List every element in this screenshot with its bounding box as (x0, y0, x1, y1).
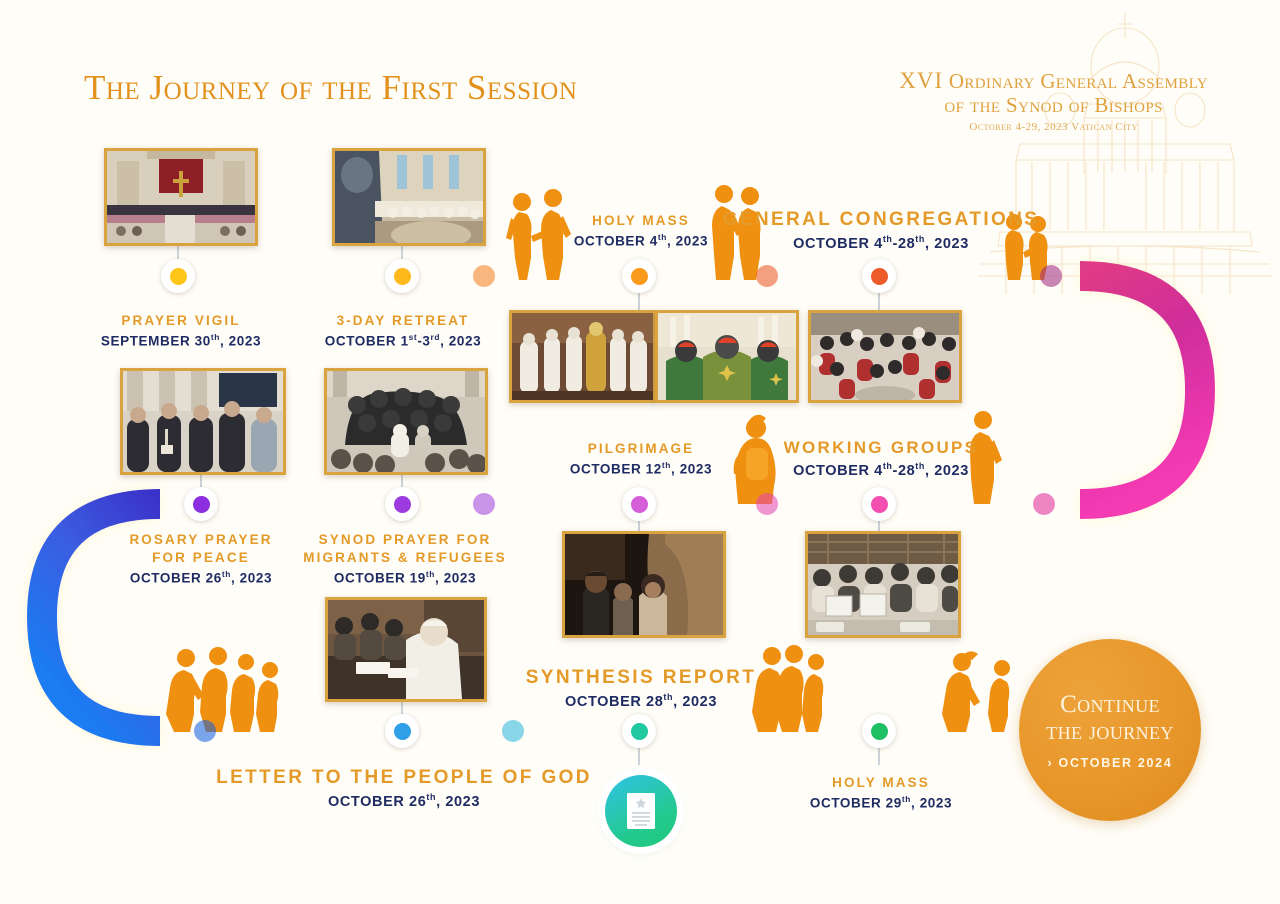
photo-rosary-prayer[interactable] (120, 368, 286, 475)
walking-people-silhouette-icon (938, 648, 1016, 732)
event-date: OCTOBER 12th, 2023 (570, 460, 712, 477)
timeline-marker-dot (473, 493, 495, 515)
photo-working-groups[interactable] (808, 310, 962, 403)
label-prayer-vigil: PRAYER VIGIL SEPTEMBER 30th, 2023 (101, 312, 261, 348)
timeline-node-prayer-vigil[interactable] (161, 259, 195, 293)
label-rosary-prayer-peace: ROSARY PRAYER FOR PEACE OCTOBER 26th, 20… (129, 531, 272, 585)
event-date: OCTOBER 26th, 2023 (216, 792, 592, 810)
timeline-marker-dot (473, 265, 495, 287)
timeline-marker-dot (1040, 265, 1062, 287)
event-title: SYNTHESIS REPORT (526, 665, 757, 690)
timeline-node-three-day-retreat[interactable] (385, 259, 419, 293)
event-date: OCTOBER 4th-28th, 2023 (723, 234, 1040, 252)
event-title: PRAYER VIGIL (101, 312, 261, 330)
photo-general-congregations[interactable] (655, 310, 799, 403)
pilgrim-silhouette-icon (726, 408, 784, 504)
timeline-node-letter-people-of-god[interactable] (385, 714, 419, 748)
label-synthesis-report: SYNTHESIS REPORT OCTOBER 28th, 2023 (526, 665, 757, 710)
timeline-node-holy-mass-oct4[interactable] (622, 259, 656, 293)
event-date: OCTOBER 4th-28th, 2023 (784, 461, 979, 479)
timeline-node-synthesis-report[interactable] (622, 714, 656, 748)
event-title: WORKING GROUPS (784, 437, 979, 459)
continue-line-1: Continue (1060, 691, 1160, 718)
document-icon (626, 792, 656, 830)
photo-synod-prayer[interactable] (324, 368, 488, 475)
timeline-node-pilgrimage[interactable] (622, 487, 656, 521)
event-title-line2: FOR PEACE (129, 549, 272, 567)
event-date: OCTOBER 19th, 2023 (303, 569, 506, 586)
synthesis-document-badge[interactable] (605, 775, 677, 847)
timeline-marker-dot (756, 265, 778, 287)
label-holy-mass-oct29: HOLY MASS OCTOBER 29th, 2023 (810, 774, 952, 810)
walking-people-silhouette-icon (505, 172, 577, 280)
continue-cta: › OCTOBER 2024 (1048, 756, 1173, 770)
walking-people-silhouette-icon (748, 640, 824, 732)
infographic-canvas: The Journey of the First Session XVI Ord… (0, 0, 1280, 904)
photo-holy-mass-oct4[interactable] (509, 310, 656, 403)
photo-pilgrimage[interactable] (562, 531, 726, 638)
photo-prayer-vigil[interactable] (104, 148, 258, 246)
event-title: SYNOD PRAYER FOR (303, 531, 506, 549)
timeline-node-working-groups[interactable] (862, 487, 896, 521)
continue-the-journey-button[interactable]: Continue the journey › OCTOBER 2024 (1019, 639, 1201, 821)
event-date: OCTOBER 26th, 2023 (129, 569, 272, 586)
timeline-marker-dot (502, 720, 524, 742)
walking-people-silhouette-icon (160, 640, 290, 732)
event-date: OCTOBER 4th, 2023 (574, 232, 708, 249)
label-synod-prayer-migrants: SYNOD PRAYER FOR MIGRANTS & REFUGEES OCT… (303, 531, 506, 585)
timeline-node-rosary-prayer-peace[interactable] (184, 487, 218, 521)
label-letter-people-of-god: LETTER TO THE PEOPLE OF GOD OCTOBER 26th… (216, 765, 592, 810)
event-date: SEPTEMBER 30th, 2023 (101, 332, 261, 349)
event-title-line2: MIGRANTS & REFUGEES (303, 549, 506, 567)
page-title: The Journey of the First Session (84, 68, 577, 108)
photo-three-day-retreat[interactable] (332, 148, 486, 246)
continue-line-2: the journey (1046, 718, 1174, 745)
photo-letter-people-of-god[interactable] (325, 597, 487, 702)
logo-line-2: of the Synod of Bishops (899, 94, 1208, 118)
event-title: HOLY MASS (574, 212, 708, 230)
timeline-node-synod-prayer-migrants[interactable] (385, 487, 419, 521)
event-title: PILGRIMAGE (570, 440, 712, 458)
event-title: 3-DAY RETREAT (325, 312, 481, 330)
logo-line-1: Ordinary General Assembly (949, 69, 1208, 93)
event-date: OCTOBER 1st-3rd, 2023 (325, 332, 481, 349)
timeline-marker-dot (756, 493, 778, 515)
photo-working-session[interactable] (805, 531, 961, 638)
label-holy-mass-oct4: HOLY MASS OCTOBER 4th, 2023 (574, 212, 708, 248)
timeline-node-holy-mass-oct29[interactable] (862, 714, 896, 748)
label-general-congregations: GENERAL CONGREGATIONS OCTOBER 4th-28th, … (723, 207, 1040, 252)
event-title: GENERAL CONGREGATIONS (723, 207, 1040, 232)
label-three-day-retreat: 3-DAY RETREAT OCTOBER 1st-3rd, 2023 (325, 312, 481, 348)
event-date: OCTOBER 29th, 2023 (810, 794, 952, 811)
label-pilgrimage: PILGRIMAGE OCTOBER 12th, 2023 (570, 440, 712, 476)
label-working-groups: WORKING GROUPS OCTOBER 4th-28th, 2023 (784, 437, 979, 479)
event-title: ROSARY PRAYER (129, 531, 272, 549)
timeline-marker-dot (1033, 493, 1055, 515)
timeline-node-general-congregations[interactable] (862, 259, 896, 293)
logo-roman-numeral: XVI (899, 68, 943, 93)
event-title: HOLY MASS (810, 774, 952, 792)
synod-logo: XVI Ordinary General Assembly of the Syn… (899, 68, 1208, 133)
event-date: OCTOBER 28th, 2023 (526, 692, 757, 710)
timeline-marker-dot (194, 720, 216, 742)
logo-line-3: October 4-29, 2023 Vatican City (899, 121, 1208, 133)
event-title: LETTER TO THE PEOPLE OF GOD (216, 765, 592, 790)
